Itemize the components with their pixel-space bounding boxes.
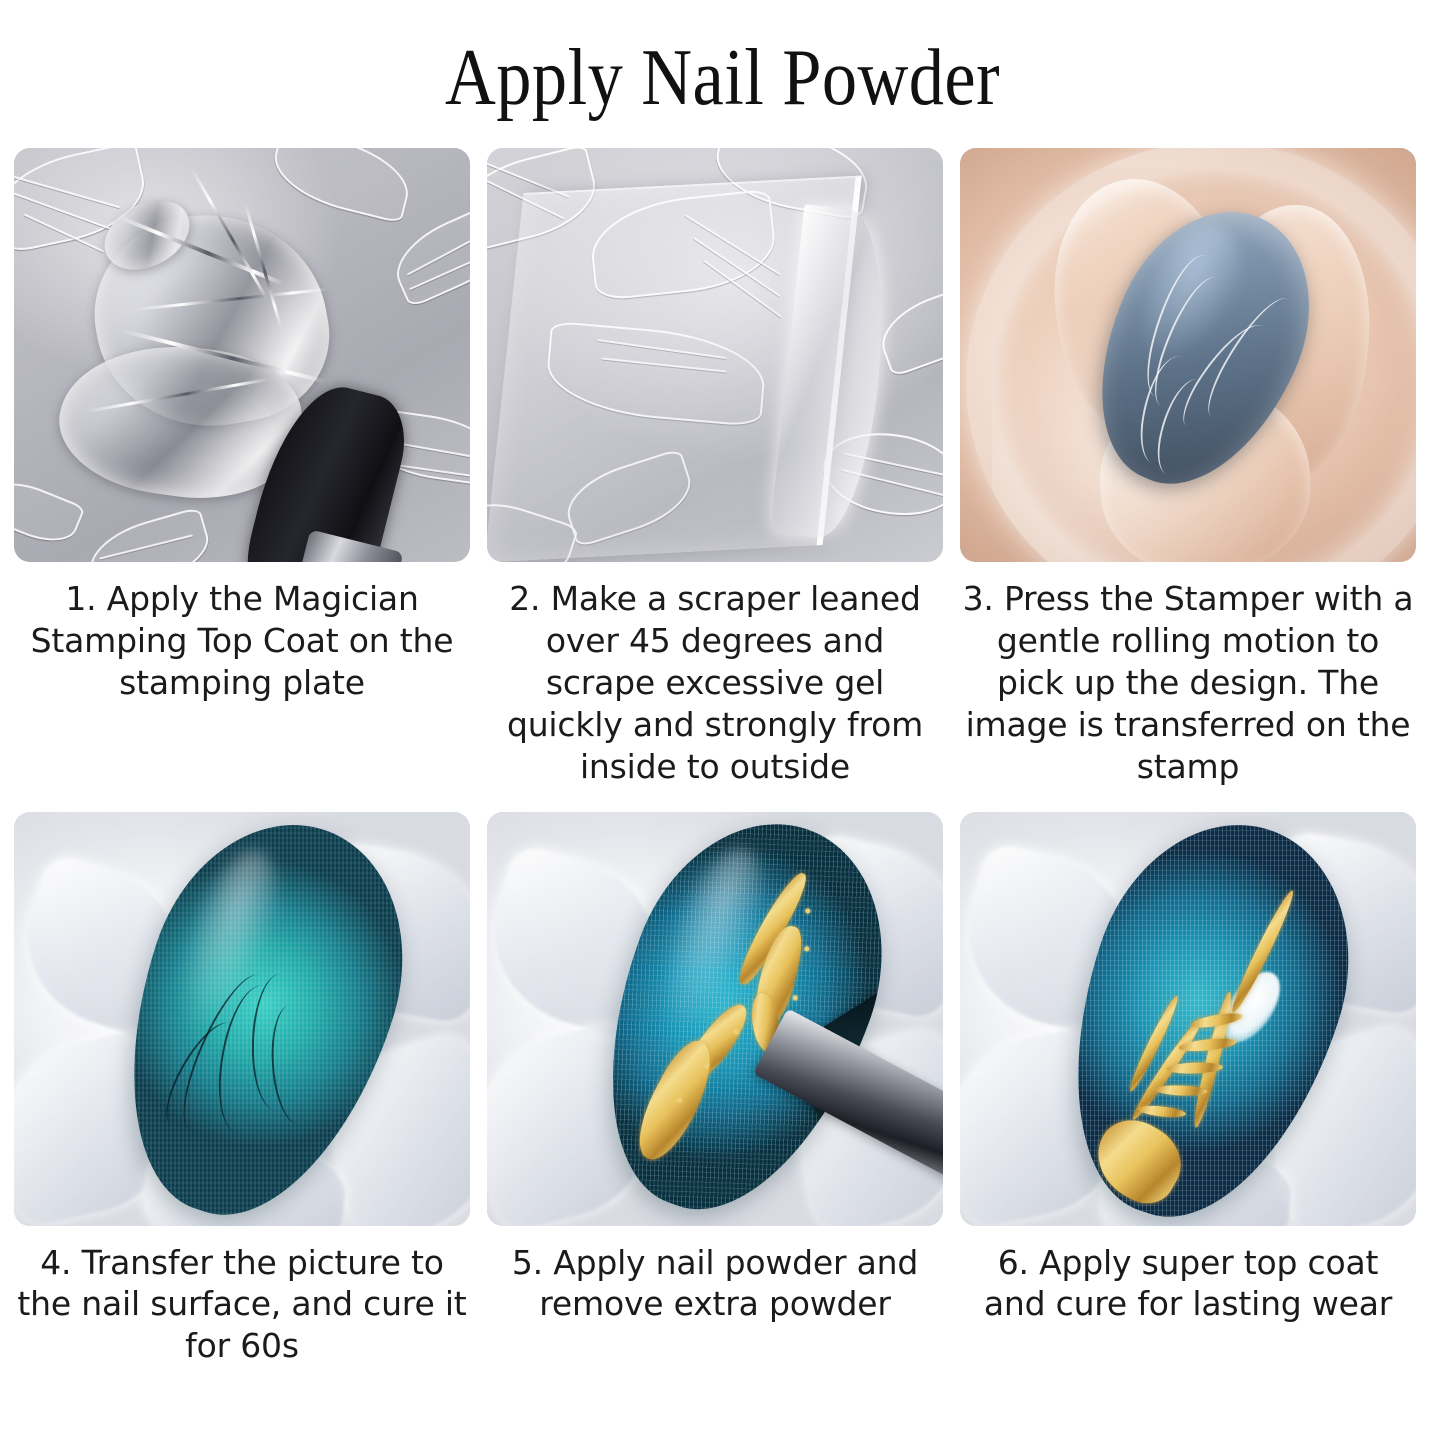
step-caption-4: 4. Transfer the picture to the nail surf… <box>14 1242 470 1368</box>
page-title: Apply Nail Powder <box>87 38 1359 118</box>
step-card-3: 3. Press the Stamper with a gentle rolli… <box>960 148 1416 788</box>
step-card-5: 5. Apply nail powder and remove extra po… <box>487 812 943 1368</box>
step-card-6: 6. Apply super top coat and cure for las… <box>960 812 1416 1368</box>
step-image-3 <box>960 148 1416 562</box>
step-image-6 <box>960 812 1416 1226</box>
step-caption-5: 5. Apply nail powder and remove extra po… <box>487 1242 943 1326</box>
step-caption-2: 2. Make a scraper leaned over 45 degrees… <box>487 578 943 788</box>
step-caption-1: 1. Apply the Magician Stamping Top Coat … <box>14 578 470 704</box>
step-image-2 <box>487 148 943 562</box>
step-card-1: 1. Apply the Magician Stamping Top Coat … <box>14 148 470 788</box>
infographic-page: Apply Nail Powder <box>0 0 1445 1445</box>
step-image-4 <box>14 812 470 1226</box>
step-caption-6: 6. Apply super top coat and cure for las… <box>960 1242 1416 1326</box>
step-card-4: 4. Transfer the picture to the nail surf… <box>14 812 470 1368</box>
step-card-2: 2. Make a scraper leaned over 45 degrees… <box>487 148 943 788</box>
step-image-5 <box>487 812 943 1226</box>
steps-grid: 1. Apply the Magician Stamping Top Coat … <box>14 148 1431 1367</box>
step-image-1 <box>14 148 470 562</box>
step-caption-3: 3. Press the Stamper with a gentle rolli… <box>960 578 1416 788</box>
